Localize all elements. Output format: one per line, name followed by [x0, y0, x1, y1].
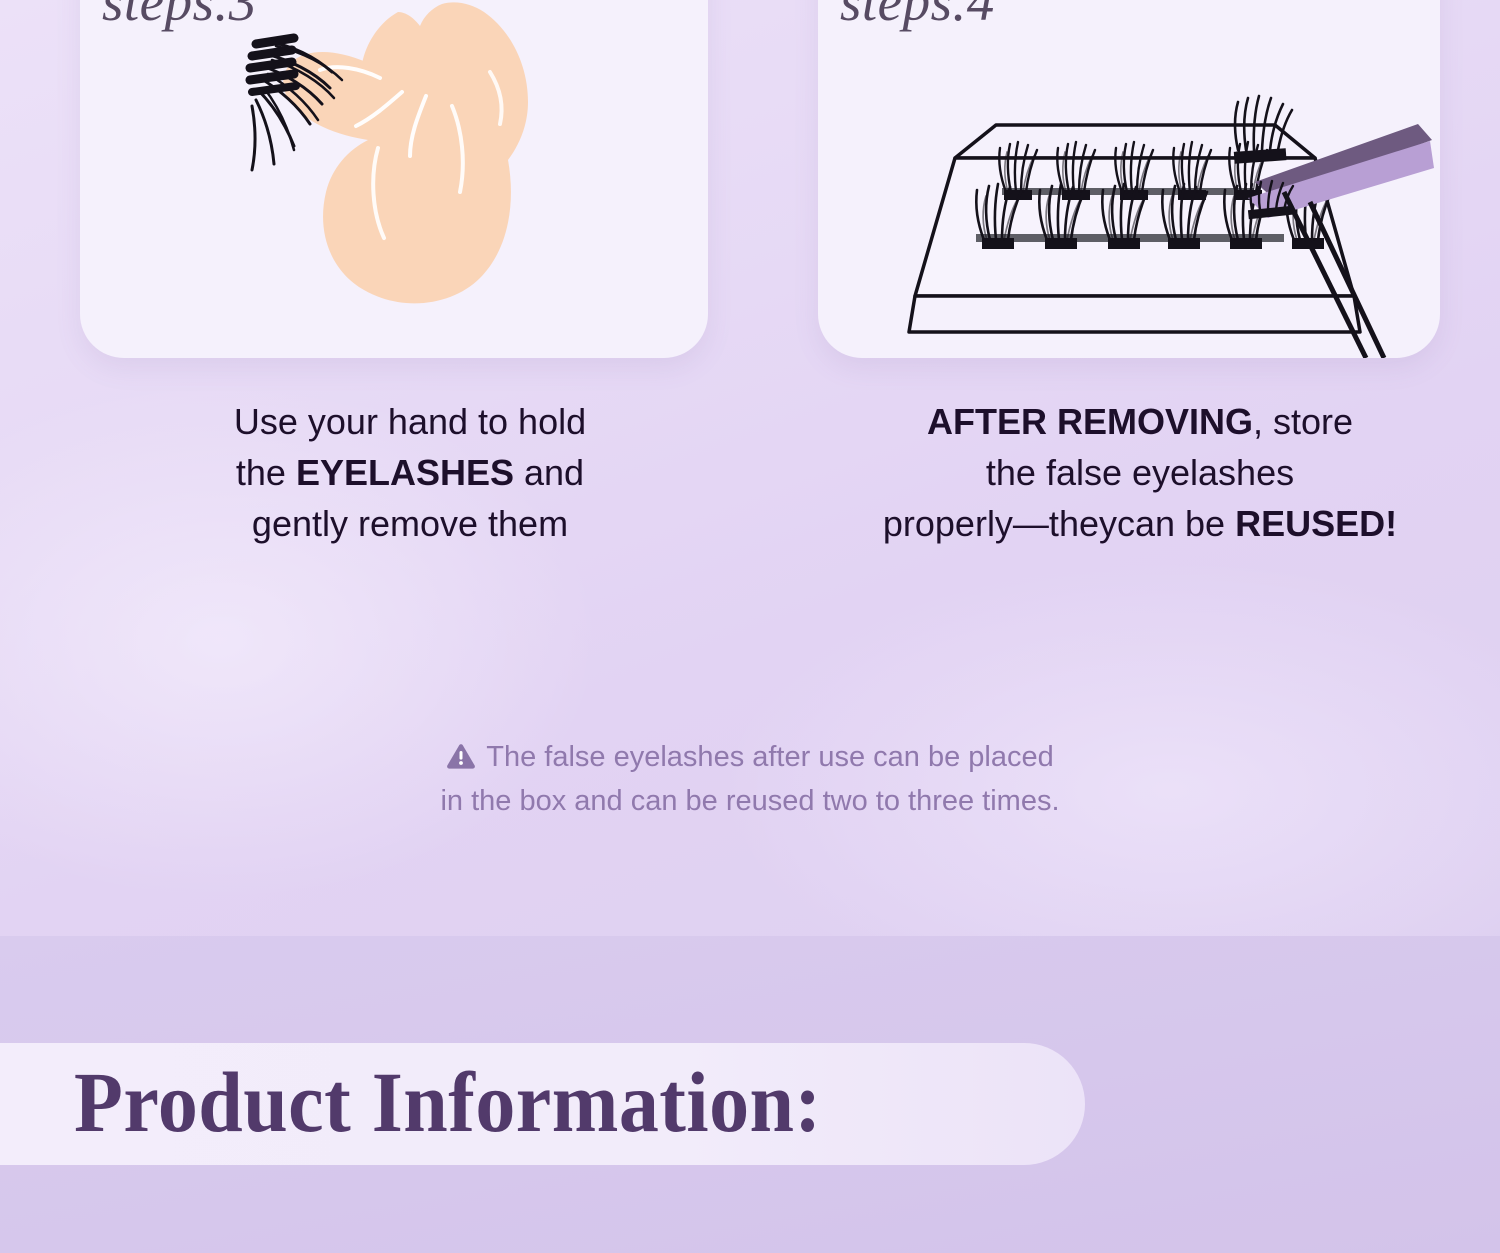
step-caption-4: AFTER REMOVING, store the false eyelashe… — [790, 396, 1490, 549]
caption-line: the EYELASHES and — [100, 447, 720, 498]
step-card-4: steps.4 — [818, 0, 1440, 358]
step-caption-3: Use your hand to hold the EYELASHES and … — [100, 396, 720, 549]
steps-section: steps.3 — [0, 0, 1500, 936]
hand-icon — [283, 2, 528, 303]
caption-emphasis: REUSED! — [1235, 503, 1397, 544]
note-line: The false eyelashes after use can be pla… — [0, 735, 1500, 779]
caption-line: Use your hand to hold — [100, 396, 720, 447]
lash-tray-illustration — [818, 0, 1440, 358]
product-infographic-page: steps.3 — [0, 0, 1500, 1253]
caption-line: the false eyelashes — [790, 447, 1490, 498]
reuse-note: The false eyelashes after use can be pla… — [0, 735, 1500, 823]
note-text: The false eyelashes after use can be pla… — [486, 741, 1053, 773]
caption-text: properly—theycan be — [883, 503, 1235, 544]
caption-line: gently remove them — [100, 498, 720, 549]
caption-text: the — [236, 452, 296, 493]
hand-holding-eyelash-illustration — [80, 0, 708, 358]
caption-line: AFTER REMOVING, store — [790, 396, 1490, 447]
note-line: in the box and can be reused two to thre… — [0, 779, 1500, 823]
caption-line: properly—theycan be REUSED! — [790, 498, 1490, 549]
caption-text: gently remove them — [252, 503, 568, 544]
caption-emphasis: EYELASHES — [296, 452, 514, 493]
caption-text: the false eyelashes — [986, 452, 1294, 493]
caption-text: Use your hand to hold — [234, 401, 586, 442]
step-card-3: steps.3 — [80, 0, 708, 358]
warning-triangle-icon — [446, 743, 476, 770]
caption-text: , store — [1253, 401, 1353, 442]
product-information-title: Product Information: — [74, 1046, 822, 1158]
caption-text: and — [514, 452, 584, 493]
caption-emphasis: AFTER REMOVING — [927, 401, 1253, 442]
